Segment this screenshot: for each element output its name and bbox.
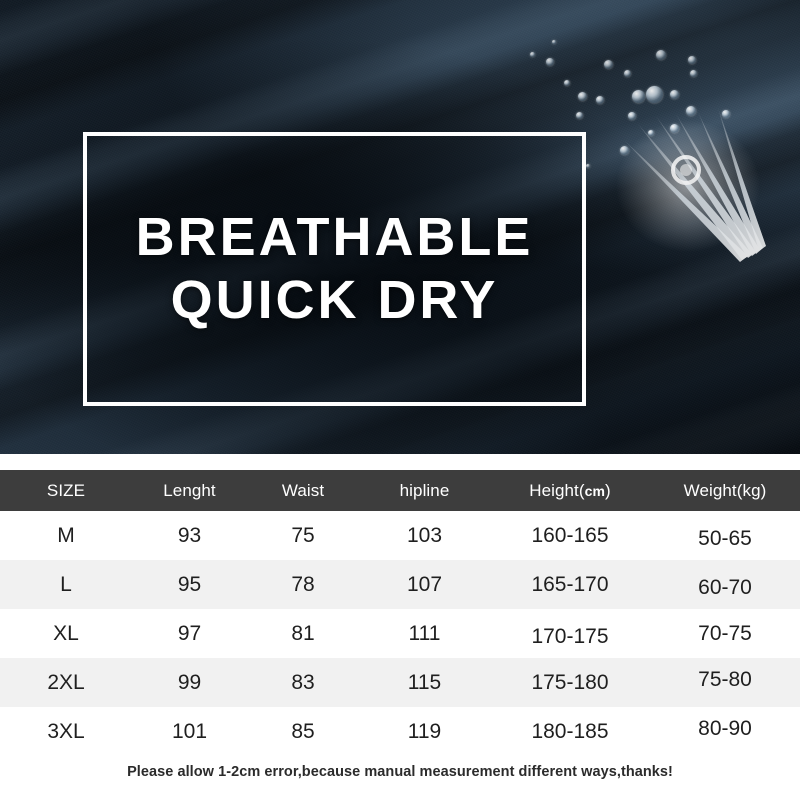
hero-headline-line-2: QUICK DRY [171,272,499,329]
column-header-length: Lenght [132,470,247,511]
cell-weight: 70-75 [650,609,800,658]
cell-waist: 85 [247,707,359,756]
cell-size: 3XL [0,707,132,756]
product-size-chart-page: BREATHABLE QUICK DRY SIZE Lenght Waist h… [0,0,800,800]
cell-height: 180-185 [490,707,650,756]
cell-weight: 80-90 [650,707,800,756]
cell-size: 2XL [0,658,132,707]
table-header-row: SIZE Lenght Waist hipline Height(cm) Wei… [0,470,800,511]
cell-size: M [0,511,132,560]
cell-waist: 83 [247,658,359,707]
cell-size: L [0,560,132,609]
size-chart-table: SIZE Lenght Waist hipline Height(cm) Wei… [0,470,800,756]
cell-height: 160-165 [490,511,650,560]
cell-size: XL [0,609,132,658]
column-header-height: Height(cm) [490,470,650,511]
cell-length: 95 [132,560,247,609]
cell-length: 97 [132,609,247,658]
table-row: 3XL 101 85 119 180-185 80-90 [0,707,800,756]
cell-height: 170-175 [490,609,650,658]
hero-banner: BREATHABLE QUICK DRY [0,0,800,454]
column-header-waist: Waist [247,470,359,511]
hero-headline-line-1: BREATHABLE [136,209,534,266]
cell-length: 101 [132,707,247,756]
column-header-hipline: hipline [359,470,490,511]
cell-weight: 75-80 [650,658,800,707]
column-header-height-unit: cm [585,483,605,499]
column-header-weight: Weight(kg) [650,470,800,511]
cell-weight: 50-65 [650,511,800,560]
table-row: L 95 78 107 165-170 60-70 [0,560,800,609]
cell-weight: 60-70 [650,560,800,609]
table-row: M 93 75 103 160-165 50-65 [0,511,800,560]
cell-hip: 115 [359,658,490,707]
hero-table-divider [0,454,800,470]
measurement-disclaimer: Please allow 1-2cm error,because manual … [0,764,800,780]
column-header-height-text: Height [529,481,579,500]
cell-length: 93 [132,511,247,560]
cell-length: 99 [132,658,247,707]
table-row: 2XL 99 83 115 175-180 75-80 [0,658,800,707]
cell-hip: 107 [359,560,490,609]
cell-hip: 111 [359,609,490,658]
cell-hip: 103 [359,511,490,560]
cell-waist: 81 [247,609,359,658]
column-header-size: SIZE [0,470,132,511]
table-row: XL 97 81 111 170-175 70-75 [0,609,800,658]
cell-waist: 78 [247,560,359,609]
size-chart-body: M 93 75 103 160-165 50-65 L 95 78 107 16… [0,511,800,756]
hero-headline-frame: BREATHABLE QUICK DRY [83,132,586,406]
cell-height: 165-170 [490,560,650,609]
cell-height: 175-180 [490,658,650,707]
cell-waist: 75 [247,511,359,560]
cell-hip: 119 [359,707,490,756]
size-chart-header: SIZE Lenght Waist hipline Height(cm) Wei… [0,470,800,511]
